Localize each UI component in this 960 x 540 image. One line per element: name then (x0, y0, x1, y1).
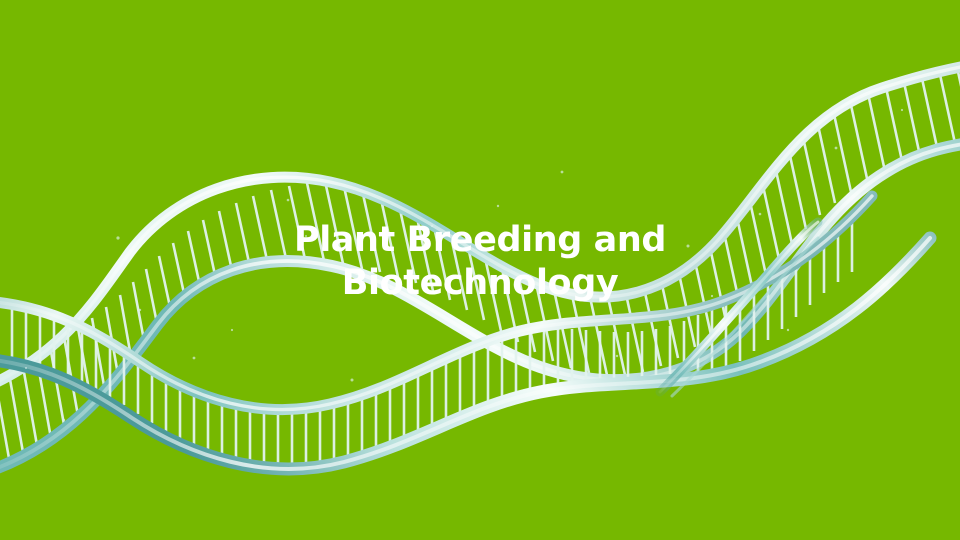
title-line-2: Biotechnology (0, 262, 960, 305)
page-title: Plant Breeding and Biotechnology (0, 219, 960, 305)
upper-helix-strand-front (0, 140, 960, 474)
title-line-1: Plant Breeding and (0, 219, 960, 262)
slide-canvas: Plant Breeding and Biotechnology (0, 0, 960, 540)
